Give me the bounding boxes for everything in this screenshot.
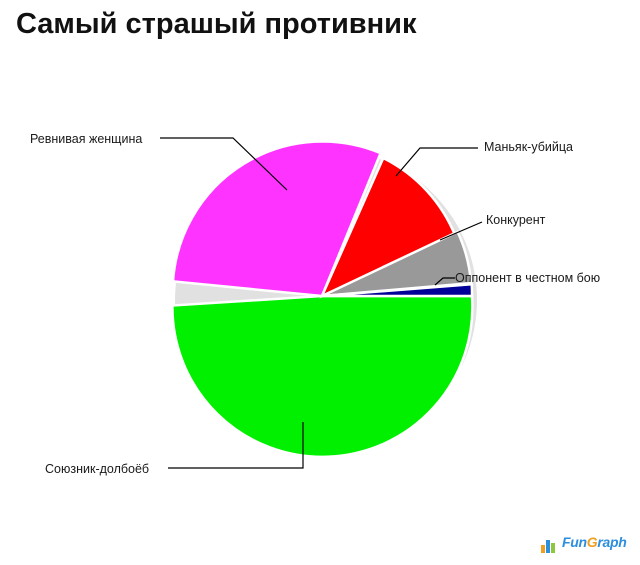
- leader-line-manyak: [396, 148, 478, 176]
- pie-label-manyak-ubiytsa: Маньяк-убийца: [484, 140, 573, 154]
- watermark-fun: Fun: [562, 534, 587, 550]
- pie-label-opponent-v-chestnom-boyu: Оппонент в честном бою: [455, 271, 600, 285]
- pie-label-revnivaya-zhenshchina: Ревнивая женщина: [30, 132, 142, 146]
- pie-label-soyuznik-dolboeb: Союзник-долбоёб: [45, 462, 149, 476]
- pie-label-konkurent: Конкурент: [486, 213, 545, 227]
- fungraph-watermark[interactable]: FunGraph: [540, 533, 630, 555]
- watermark-raph: raph: [597, 534, 626, 550]
- pie-chart: Ревнивая женщина Маньяк-убийца Конкурент…: [0, 0, 640, 565]
- watermark-text: FunGraph: [562, 534, 627, 550]
- pie-slice-soyuznik-dolboeb[interactable]: [172, 296, 472, 457]
- watermark-g: G: [587, 534, 598, 550]
- bar-chart-icon: [540, 535, 560, 555]
